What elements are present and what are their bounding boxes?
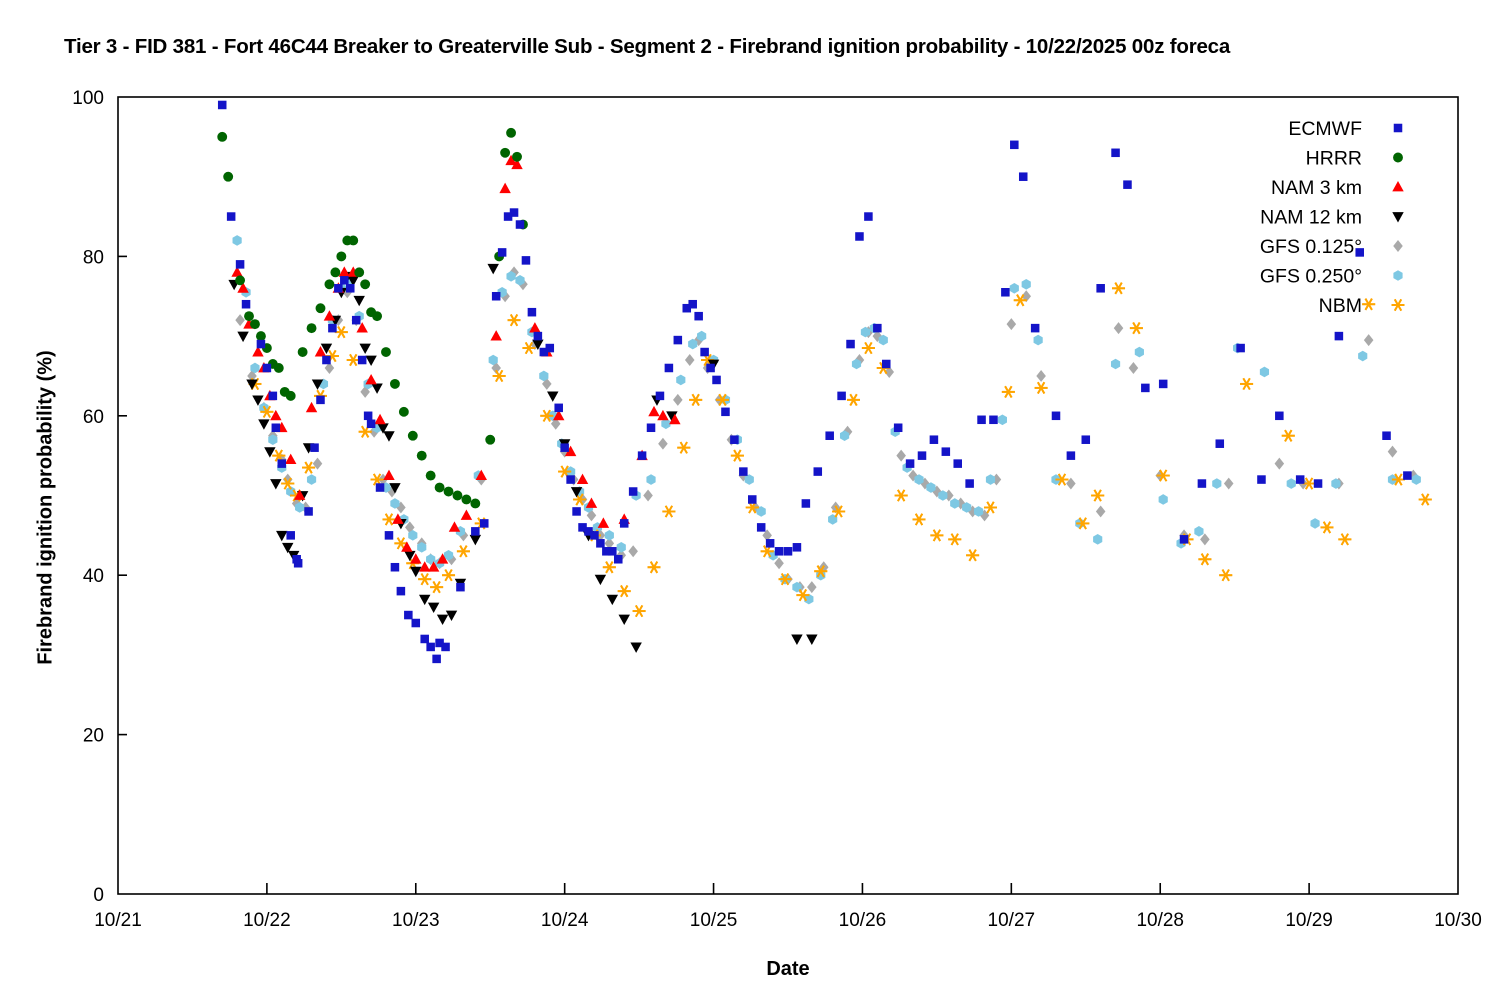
data-point bbox=[643, 490, 653, 502]
data-point bbox=[882, 360, 891, 369]
data-point bbox=[596, 539, 605, 548]
data-point bbox=[1010, 283, 1019, 294]
data-point bbox=[516, 220, 525, 229]
data-point bbox=[1082, 435, 1091, 444]
data-point bbox=[353, 296, 364, 306]
data-point bbox=[428, 603, 439, 613]
data-point bbox=[1224, 478, 1234, 490]
data-point bbox=[286, 391, 296, 401]
data-point bbox=[677, 442, 690, 453]
data-point bbox=[256, 331, 266, 341]
data-point bbox=[381, 347, 391, 357]
data-point bbox=[236, 260, 245, 269]
data-point bbox=[1310, 518, 1319, 529]
data-point bbox=[360, 279, 370, 289]
data-point bbox=[1314, 479, 1323, 488]
data-point bbox=[485, 435, 495, 445]
data-point bbox=[633, 605, 646, 616]
data-point bbox=[1212, 478, 1221, 489]
data-point bbox=[470, 499, 480, 509]
data-point bbox=[330, 267, 340, 277]
data-point bbox=[461, 495, 471, 505]
data-point bbox=[437, 615, 448, 625]
data-point bbox=[359, 344, 370, 354]
data-point bbox=[506, 128, 516, 138]
data-point bbox=[630, 643, 641, 653]
data-point bbox=[638, 451, 647, 460]
legend-label-gfs-0-250: GFS 0.250° bbox=[1260, 266, 1362, 288]
x-tick-label: 10/30 bbox=[1434, 910, 1482, 931]
data-point bbox=[1019, 172, 1028, 181]
x-tick-label: 10/29 bbox=[1285, 910, 1333, 931]
data-point bbox=[397, 587, 406, 596]
data-point bbox=[605, 530, 614, 541]
data-point bbox=[846, 340, 855, 349]
data-point bbox=[739, 467, 748, 476]
data-point bbox=[376, 483, 385, 492]
data-point bbox=[647, 423, 656, 432]
data-point bbox=[322, 356, 331, 365]
data-point bbox=[235, 275, 245, 285]
x-tick-label: 10/21 bbox=[94, 910, 142, 931]
data-point bbox=[1112, 283, 1125, 294]
data-point bbox=[673, 394, 683, 406]
data-point bbox=[335, 326, 348, 337]
data-point bbox=[1287, 478, 1296, 489]
data-point bbox=[456, 583, 465, 592]
legend-label-nbm: NBM bbox=[1319, 295, 1362, 317]
data-point bbox=[334, 284, 343, 293]
data-point bbox=[730, 435, 739, 444]
data-point bbox=[685, 354, 695, 366]
data-point bbox=[873, 324, 882, 333]
data-point bbox=[444, 487, 454, 497]
data-point bbox=[227, 212, 236, 221]
data-point bbox=[837, 392, 846, 401]
legend-marker-hexagon bbox=[1393, 270, 1402, 281]
data-point bbox=[294, 559, 303, 568]
data-point bbox=[304, 507, 313, 516]
data-point bbox=[374, 414, 385, 424]
data-point bbox=[700, 348, 709, 357]
series-hrrr bbox=[217, 128, 528, 508]
chart-legend: ECMWFHRRRNAM 3 kmNAM 12 kmGFS 0.125°GFS … bbox=[1260, 118, 1405, 317]
data-point bbox=[298, 347, 308, 357]
data-point bbox=[461, 509, 472, 519]
data-point bbox=[1296, 475, 1305, 484]
data-point bbox=[1067, 451, 1076, 460]
data-point bbox=[1320, 522, 1333, 533]
data-point bbox=[614, 555, 623, 564]
data-point bbox=[977, 416, 986, 425]
data-point bbox=[1335, 332, 1344, 341]
data-point bbox=[1388, 446, 1398, 458]
data-point bbox=[1159, 380, 1168, 389]
y-tick-label: 60 bbox=[83, 407, 104, 428]
data-point bbox=[628, 545, 638, 557]
data-point bbox=[340, 276, 349, 285]
data-point bbox=[480, 519, 489, 528]
data-point bbox=[1338, 534, 1351, 545]
data-point bbox=[367, 420, 376, 429]
data-point bbox=[250, 319, 260, 329]
legend-marker-triangle-down bbox=[1392, 212, 1403, 222]
data-point bbox=[534, 332, 543, 341]
data-point bbox=[529, 322, 540, 332]
data-point bbox=[1111, 359, 1120, 370]
data-point bbox=[1096, 505, 1106, 517]
data-point bbox=[270, 479, 281, 489]
data-point bbox=[1257, 475, 1266, 484]
data-point bbox=[1159, 494, 1168, 505]
data-point bbox=[862, 342, 875, 353]
data-point bbox=[354, 267, 364, 277]
data-point bbox=[324, 279, 334, 289]
data-point bbox=[1034, 335, 1043, 346]
y-tick-label: 0 bbox=[93, 885, 104, 906]
data-point bbox=[950, 498, 959, 509]
data-point bbox=[986, 474, 995, 485]
data-point bbox=[218, 101, 227, 110]
data-point bbox=[658, 438, 668, 450]
legend-label-nam-3-km: NAM 3 km bbox=[1271, 177, 1362, 199]
data-point bbox=[566, 475, 575, 484]
data-point bbox=[1114, 322, 1124, 334]
data-point bbox=[618, 586, 631, 597]
data-point bbox=[336, 251, 346, 261]
data-point bbox=[364, 412, 373, 421]
data-point bbox=[285, 454, 296, 464]
data-point bbox=[966, 550, 979, 561]
data-point bbox=[766, 539, 775, 548]
data-point bbox=[1282, 430, 1295, 441]
data-point bbox=[372, 311, 382, 321]
data-point bbox=[603, 562, 616, 573]
data-point bbox=[1135, 347, 1144, 358]
y-tick-label: 100 bbox=[72, 88, 104, 109]
data-point bbox=[399, 407, 409, 417]
data-point bbox=[998, 414, 1007, 425]
data-point bbox=[1236, 344, 1245, 353]
data-point bbox=[432, 655, 441, 664]
data-point bbox=[237, 332, 248, 342]
data-point bbox=[263, 364, 272, 373]
data-point bbox=[1007, 318, 1017, 330]
data-point bbox=[1180, 535, 1189, 544]
data-point bbox=[1010, 141, 1019, 150]
data-point bbox=[316, 396, 325, 405]
data-point bbox=[453, 491, 463, 501]
data-point bbox=[493, 370, 506, 381]
data-point bbox=[572, 507, 581, 516]
data-point bbox=[257, 340, 266, 349]
data-point bbox=[1194, 526, 1203, 537]
data-point bbox=[1123, 180, 1132, 189]
data-point bbox=[426, 471, 436, 481]
data-point bbox=[1419, 494, 1432, 505]
legend-label-hrrr: HRRR bbox=[1306, 148, 1362, 170]
data-point bbox=[814, 467, 823, 476]
data-point bbox=[217, 132, 227, 142]
data-point bbox=[235, 314, 245, 326]
data-point bbox=[269, 392, 278, 401]
data-point bbox=[608, 547, 617, 556]
data-point bbox=[417, 451, 427, 461]
data-point bbox=[953, 459, 962, 468]
data-point bbox=[620, 519, 629, 528]
data-point bbox=[258, 419, 269, 429]
data-point bbox=[233, 235, 242, 246]
data-point bbox=[385, 531, 394, 540]
data-point bbox=[806, 635, 817, 645]
data-point bbox=[508, 315, 521, 326]
data-point bbox=[1022, 279, 1031, 290]
data-point bbox=[1001, 288, 1010, 297]
data-point bbox=[1403, 471, 1412, 480]
data-point bbox=[498, 248, 507, 257]
data-point bbox=[1219, 570, 1232, 581]
legend-marker-square bbox=[1394, 124, 1403, 133]
data-point bbox=[339, 266, 350, 276]
data-point bbox=[665, 364, 674, 373]
x-tick-label: 10/25 bbox=[690, 910, 738, 931]
y-tick-label: 80 bbox=[83, 247, 104, 268]
data-point bbox=[619, 615, 630, 625]
data-point bbox=[244, 311, 254, 321]
data-point bbox=[930, 435, 939, 444]
data-point bbox=[656, 392, 665, 401]
data-point bbox=[1141, 384, 1150, 393]
data-point bbox=[895, 490, 908, 501]
y-tick-label: 20 bbox=[83, 726, 104, 747]
data-point bbox=[435, 483, 445, 493]
data-point bbox=[410, 567, 421, 577]
data-point bbox=[688, 300, 697, 309]
data-point bbox=[894, 423, 903, 432]
data-point bbox=[426, 643, 435, 652]
data-point bbox=[324, 310, 335, 320]
data-point bbox=[791, 635, 802, 645]
data-point bbox=[371, 383, 382, 393]
data-point bbox=[383, 431, 394, 441]
data-point bbox=[492, 292, 501, 301]
data-point bbox=[441, 643, 450, 652]
data-point bbox=[913, 514, 926, 525]
data-point bbox=[721, 408, 730, 417]
data-point bbox=[864, 212, 873, 221]
legend-marker-circle bbox=[1393, 153, 1403, 163]
data-point bbox=[577, 474, 588, 484]
data-point bbox=[1031, 324, 1040, 333]
data-point bbox=[546, 344, 555, 353]
data-point bbox=[595, 575, 606, 585]
data-point bbox=[430, 582, 443, 593]
data-point bbox=[560, 443, 569, 452]
data-point bbox=[1091, 490, 1104, 501]
data-point bbox=[674, 336, 683, 345]
data-point bbox=[307, 323, 317, 333]
data-point bbox=[347, 354, 360, 365]
data-point bbox=[1198, 554, 1211, 565]
data-point bbox=[1362, 299, 1375, 310]
legend-marker-triangle-up bbox=[1392, 181, 1403, 191]
data-point bbox=[408, 431, 418, 441]
data-point bbox=[662, 506, 675, 517]
x-tick-label: 10/27 bbox=[988, 910, 1036, 931]
legend-label-ecmwf: ECMWF bbox=[1288, 118, 1362, 140]
data-point bbox=[420, 635, 429, 644]
data-point bbox=[607, 595, 618, 605]
data-point bbox=[648, 406, 659, 416]
data-point bbox=[1260, 367, 1269, 378]
data-point bbox=[348, 236, 358, 246]
data-point bbox=[278, 459, 287, 468]
data-point bbox=[694, 312, 703, 321]
data-point bbox=[510, 208, 519, 217]
data-point bbox=[731, 450, 744, 461]
data-point bbox=[242, 300, 251, 309]
x-tick-label: 10/22 bbox=[243, 910, 291, 931]
x-tick-label: 10/23 bbox=[392, 910, 440, 931]
data-point bbox=[404, 611, 413, 620]
data-point bbox=[1002, 386, 1015, 397]
data-point bbox=[390, 379, 400, 389]
data-point bbox=[272, 423, 281, 432]
data-point bbox=[965, 479, 974, 488]
data-point bbox=[223, 172, 233, 182]
data-point bbox=[689, 394, 702, 405]
data-point bbox=[748, 495, 757, 504]
data-point bbox=[1216, 439, 1225, 448]
data-point bbox=[1358, 351, 1367, 362]
data-point bbox=[712, 376, 721, 385]
data-point bbox=[358, 356, 367, 365]
data-point bbox=[775, 547, 784, 556]
data-point bbox=[500, 148, 510, 158]
data-point bbox=[706, 364, 715, 373]
chart-figure: Tier 3 - FID 381 - Fort 46C44 Breaker to… bbox=[0, 0, 1500, 1000]
data-point bbox=[942, 447, 951, 456]
data-point bbox=[490, 330, 501, 340]
data-point bbox=[310, 443, 319, 452]
data-point bbox=[676, 375, 685, 386]
data-point bbox=[471, 527, 480, 536]
data-point bbox=[598, 517, 609, 527]
data-point bbox=[1198, 479, 1207, 488]
data-point bbox=[896, 450, 906, 462]
data-point bbox=[528, 308, 537, 317]
x-tick-label: 10/26 bbox=[839, 910, 887, 931]
data-point bbox=[286, 531, 295, 540]
data-point bbox=[855, 232, 864, 241]
data-point bbox=[412, 619, 421, 628]
data-point bbox=[918, 451, 927, 460]
data-point bbox=[1035, 382, 1048, 393]
data-point bbox=[499, 183, 510, 193]
data-points-layer bbox=[217, 101, 1431, 663]
data-point bbox=[307, 474, 316, 485]
data-point bbox=[547, 391, 558, 401]
x-tick-label: 10/28 bbox=[1136, 910, 1184, 931]
data-point bbox=[418, 574, 431, 585]
data-point bbox=[554, 404, 563, 413]
data-point bbox=[906, 459, 915, 468]
data-point bbox=[802, 499, 811, 508]
data-point bbox=[1036, 370, 1046, 382]
legend-marker-asterisk bbox=[1392, 299, 1405, 310]
data-point bbox=[930, 530, 943, 541]
data-point bbox=[1275, 412, 1284, 421]
data-point bbox=[383, 470, 394, 480]
data-point bbox=[1129, 362, 1139, 374]
data-point bbox=[1240, 378, 1253, 389]
data-point bbox=[391, 563, 400, 572]
data-point bbox=[487, 264, 498, 274]
data-point bbox=[346, 284, 355, 293]
legend-label-gfs-0-125: GFS 0.125° bbox=[1260, 236, 1362, 258]
data-point bbox=[617, 542, 626, 553]
data-point bbox=[1382, 431, 1391, 440]
data-point bbox=[648, 562, 661, 573]
data-point bbox=[442, 570, 455, 581]
data-point bbox=[306, 402, 317, 412]
data-point bbox=[590, 531, 599, 540]
y-tick-label: 40 bbox=[83, 566, 104, 587]
data-point bbox=[276, 531, 287, 541]
data-point bbox=[1093, 534, 1102, 545]
data-point bbox=[449, 521, 460, 531]
data-point bbox=[1275, 458, 1285, 470]
legend-label-nam-12-km: NAM 12 km bbox=[1260, 207, 1362, 229]
data-point bbox=[629, 487, 638, 496]
data-point bbox=[989, 416, 998, 425]
data-point bbox=[1096, 284, 1105, 293]
x-tick-label: 10/24 bbox=[541, 910, 589, 931]
data-point bbox=[646, 474, 655, 485]
plot-frame bbox=[118, 97, 1458, 894]
data-point bbox=[522, 256, 531, 265]
data-point bbox=[352, 316, 361, 325]
data-point bbox=[586, 497, 597, 507]
data-point bbox=[274, 363, 284, 373]
legend-marker-diamond bbox=[1393, 240, 1403, 252]
data-point bbox=[1130, 323, 1143, 334]
data-point bbox=[784, 547, 793, 556]
data-point bbox=[316, 303, 326, 313]
scatter-plot: 02040608010010/2110/2210/2310/2410/2510/… bbox=[0, 0, 1500, 1000]
data-point bbox=[847, 394, 860, 405]
data-point bbox=[512, 152, 522, 162]
data-point bbox=[807, 581, 817, 593]
data-point bbox=[1111, 149, 1120, 158]
data-point bbox=[1052, 412, 1061, 421]
series-nam-12-km bbox=[228, 264, 817, 653]
data-point bbox=[365, 356, 376, 366]
data-point bbox=[457, 546, 470, 557]
data-point bbox=[825, 431, 834, 440]
series-gfs-0-125 bbox=[235, 266, 1418, 593]
data-point bbox=[328, 324, 337, 333]
data-point bbox=[948, 534, 961, 545]
data-point bbox=[365, 374, 376, 384]
data-point bbox=[1364, 334, 1374, 346]
data-point bbox=[793, 543, 802, 552]
data-point bbox=[470, 535, 481, 545]
data-point bbox=[757, 523, 766, 532]
